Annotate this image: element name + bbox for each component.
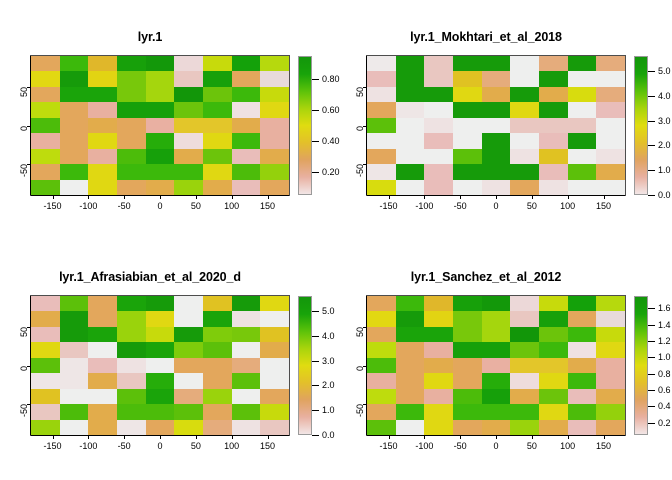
heatmap-cell xyxy=(396,404,425,419)
heatmap-cell xyxy=(424,149,453,164)
heatmap-cell xyxy=(396,56,425,71)
heatmap-cell xyxy=(174,358,203,373)
colorbar-tick xyxy=(648,170,655,171)
heatmap-cell xyxy=(539,118,568,133)
heatmap-cell xyxy=(260,102,289,117)
colorbar-tick xyxy=(312,410,319,411)
x-axis-tick-label: -150 xyxy=(379,201,397,211)
heatmap-cell xyxy=(424,358,453,373)
y-axis-tick-label: 50 xyxy=(355,327,365,337)
heatmap-cell xyxy=(88,180,117,195)
heatmap-cell xyxy=(510,71,539,86)
heatmap-cell xyxy=(31,56,60,71)
heatmap-cell xyxy=(568,420,597,435)
heatmap-cell xyxy=(424,373,453,388)
x-axis-tick xyxy=(268,195,269,199)
heatmap-cell xyxy=(31,342,60,357)
heatmap-cell xyxy=(510,327,539,342)
y-axis: 500-50 xyxy=(9,56,31,195)
heatmap-cell xyxy=(539,296,568,311)
heatmap-panel-1: lyr.1-150-100-50050100150500-500.200.400… xyxy=(0,0,336,240)
heatmap-cell xyxy=(232,296,261,311)
heatmap-cell xyxy=(88,87,117,102)
heatmap-cell xyxy=(31,358,60,373)
heatmap-cell xyxy=(424,133,453,148)
heatmap-cell xyxy=(117,404,146,419)
heatmap-cell xyxy=(510,311,539,326)
heatmap-cell xyxy=(482,149,511,164)
heatmap-cell xyxy=(31,164,60,179)
heatmap-cell xyxy=(31,133,60,148)
heatmap-cell xyxy=(539,373,568,388)
heatmap-cell xyxy=(60,420,89,435)
heatmap-cell xyxy=(367,118,396,133)
heatmap-cell xyxy=(117,102,146,117)
heatmap-cell xyxy=(232,71,261,86)
heatmap-cell xyxy=(146,420,175,435)
heatmap-cell xyxy=(510,149,539,164)
heatmap-cell xyxy=(174,102,203,117)
heatmap-cell xyxy=(367,327,396,342)
colorbar-tick-label: 1.0 xyxy=(658,165,671,175)
heatmap-cell xyxy=(60,311,89,326)
heatmap-cell xyxy=(260,404,289,419)
colorbar-tick-label: 0.0 xyxy=(658,190,671,200)
heatmap-cell xyxy=(203,102,232,117)
heatmap-cell xyxy=(367,180,396,195)
heatmap-cell xyxy=(232,133,261,148)
heatmap-cell xyxy=(482,87,511,102)
heatmap-cell xyxy=(568,311,597,326)
x-axis-tick xyxy=(268,435,269,439)
panel-title: lyr.1 xyxy=(0,30,300,44)
heatmap-cell xyxy=(568,133,597,148)
x-axis-tick xyxy=(88,195,89,199)
heatmap-cell xyxy=(146,296,175,311)
heatmap-cell xyxy=(596,373,625,388)
heatmap-cell xyxy=(424,102,453,117)
heatmap-cell xyxy=(396,133,425,148)
heatmap-cell xyxy=(31,311,60,326)
colorbar-tick-label: 1.0 xyxy=(322,405,335,415)
heatmap-cell xyxy=(203,358,232,373)
heatmap-cell xyxy=(232,327,261,342)
heatmap-cell xyxy=(367,296,396,311)
heatmap-cell xyxy=(174,327,203,342)
heatmap-cell xyxy=(260,71,289,86)
x-axis-tick-label: 100 xyxy=(224,441,239,451)
heatmap-cell xyxy=(510,87,539,102)
heatmap-cell xyxy=(31,71,60,86)
heatmap-cell xyxy=(510,373,539,388)
heatmap-grid xyxy=(31,56,289,195)
heatmap-cell xyxy=(596,180,625,195)
x-axis-tick xyxy=(196,435,197,439)
heatmap-cell xyxy=(367,404,396,419)
heatmap-cell xyxy=(31,373,60,388)
heatmap-cell xyxy=(117,389,146,404)
heatmap-cell xyxy=(146,87,175,102)
heatmap-cell xyxy=(203,164,232,179)
heatmap-cell xyxy=(260,342,289,357)
heatmap-cell xyxy=(174,118,203,133)
heatmap-cell xyxy=(424,164,453,179)
heatmap-cell xyxy=(203,373,232,388)
heatmap-cell xyxy=(203,87,232,102)
heatmap-cell xyxy=(60,296,89,311)
heatmap-cell xyxy=(596,404,625,419)
heatmap-cell xyxy=(60,149,89,164)
heatmap-cell xyxy=(424,180,453,195)
heatmap-cell xyxy=(203,311,232,326)
heatmap-cell xyxy=(60,102,89,117)
colorbar-tick-label: 2.0 xyxy=(322,380,335,390)
y-axis-tick-label: -50 xyxy=(355,164,365,177)
heatmap-cell xyxy=(232,389,261,404)
x-axis-tick-label: 100 xyxy=(560,201,575,211)
heatmap-cell xyxy=(424,389,453,404)
heatmap-cell xyxy=(232,56,261,71)
heatmap-cell xyxy=(539,164,568,179)
heatmap-cell xyxy=(482,358,511,373)
heatmap-cell xyxy=(60,373,89,388)
heatmap-cell xyxy=(396,373,425,388)
heatmap-cell xyxy=(31,102,60,117)
heatmap-cell xyxy=(174,373,203,388)
heatmap-cell xyxy=(482,389,511,404)
x-axis-tick-label: 0 xyxy=(493,441,498,451)
heatmap-plot-area xyxy=(367,296,625,435)
heatmap-cell xyxy=(88,118,117,133)
heatmap-cell xyxy=(146,311,175,326)
heatmap-cell xyxy=(232,311,261,326)
heatmap-cell xyxy=(568,56,597,71)
heatmap-cell xyxy=(174,56,203,71)
heatmap-cell xyxy=(424,296,453,311)
heatmap-cell xyxy=(60,164,89,179)
heatmap-cell xyxy=(596,342,625,357)
heatmap-cell xyxy=(568,358,597,373)
colorbar-tick-label: 5.0 xyxy=(322,306,335,316)
heatmap-cell xyxy=(539,358,568,373)
heatmap-cell xyxy=(31,404,60,419)
colorbar-tick-label: 2.0 xyxy=(658,140,671,150)
x-axis-tick xyxy=(532,435,533,439)
heatmap-cell xyxy=(539,311,568,326)
heatmap-cell xyxy=(453,102,482,117)
x-axis-tick xyxy=(160,195,161,199)
x-axis: -150-100-50050100150 xyxy=(367,195,625,217)
heatmap-cell xyxy=(174,296,203,311)
heatmap-cell xyxy=(596,102,625,117)
heatmap-cell xyxy=(396,102,425,117)
y-axis-tick-label: 50 xyxy=(19,87,29,97)
heatmap-cell xyxy=(232,373,261,388)
heatmap-cell xyxy=(453,118,482,133)
heatmap-cell xyxy=(146,118,175,133)
heatmap-cell xyxy=(482,118,511,133)
heatmap-cell xyxy=(424,327,453,342)
heatmap-grid xyxy=(31,296,289,435)
heatmap-grid xyxy=(367,296,625,435)
heatmap-panel-2: lyr.1_Mokhtari_et_al_2018-150-100-500501… xyxy=(336,0,672,240)
heatmap-cell xyxy=(510,118,539,133)
heatmap-cell xyxy=(596,133,625,148)
heatmap-cell xyxy=(203,56,232,71)
heatmap-cell xyxy=(367,56,396,71)
heatmap-cell xyxy=(396,180,425,195)
heatmap-cell xyxy=(367,149,396,164)
heatmap-cell xyxy=(424,311,453,326)
heatmap-cell xyxy=(203,296,232,311)
x-axis-tick-label: -150 xyxy=(43,441,61,451)
colorbar-tick xyxy=(648,71,655,72)
heatmap-cell xyxy=(367,420,396,435)
heatmap-cell xyxy=(568,102,597,117)
heatmap-cell xyxy=(453,164,482,179)
heatmap-cell xyxy=(568,404,597,419)
y-axis-tick-label: 50 xyxy=(355,87,365,97)
heatmap-cell xyxy=(510,164,539,179)
heatmap-cell xyxy=(396,311,425,326)
heatmap-cell xyxy=(424,342,453,357)
heatmap-cell xyxy=(596,420,625,435)
heatmap-cell xyxy=(510,296,539,311)
heatmap-cell xyxy=(31,389,60,404)
colorbar-tick xyxy=(312,172,319,173)
heatmap-cell xyxy=(396,118,425,133)
heatmap-cell xyxy=(88,358,117,373)
heatmap-cell xyxy=(117,164,146,179)
x-axis-tick xyxy=(424,435,425,439)
heatmap-cell xyxy=(203,133,232,148)
x-axis-tick-label: 0 xyxy=(157,441,162,451)
heatmap-cell xyxy=(88,404,117,419)
colorbar-tick xyxy=(648,341,655,342)
heatmap-cell xyxy=(260,373,289,388)
colorbar-tick xyxy=(648,374,655,375)
colorbar-tick xyxy=(312,79,319,80)
x-axis-tick xyxy=(496,435,497,439)
colorbar-tick-label: 1.6 xyxy=(658,303,671,313)
heatmap-cell xyxy=(117,133,146,148)
heatmap-cell xyxy=(88,149,117,164)
heatmap-cell xyxy=(367,133,396,148)
heatmap-cell xyxy=(453,404,482,419)
heatmap-cell xyxy=(232,164,261,179)
colorbar-tick xyxy=(648,121,655,122)
x-axis-tick xyxy=(88,435,89,439)
heatmap-cell xyxy=(482,373,511,388)
heatmap-cell xyxy=(596,118,625,133)
heatmap-cell xyxy=(203,71,232,86)
heatmap-cell xyxy=(260,296,289,311)
heatmap-cell xyxy=(232,180,261,195)
heatmap-cell xyxy=(396,420,425,435)
colorbar-tick xyxy=(312,110,319,111)
heatmap-cell xyxy=(88,420,117,435)
heatmap-cell xyxy=(88,71,117,86)
heatmap-cell xyxy=(396,164,425,179)
heatmap-cell xyxy=(424,87,453,102)
heatmap-cell xyxy=(510,420,539,435)
heatmap-cell xyxy=(482,404,511,419)
heatmap-cell xyxy=(60,389,89,404)
heatmap-cell xyxy=(203,118,232,133)
heatmap-cell xyxy=(453,71,482,86)
heatmap-cell xyxy=(232,358,261,373)
heatmap-cell xyxy=(117,358,146,373)
heatmap-cell xyxy=(88,56,117,71)
heatmap-cell xyxy=(568,164,597,179)
heatmap-cell xyxy=(367,164,396,179)
heatmap-cell xyxy=(596,87,625,102)
colorbar-gradient xyxy=(634,296,648,435)
heatmap-cell xyxy=(539,420,568,435)
heatmap-cell xyxy=(510,358,539,373)
heatmap-cell xyxy=(539,149,568,164)
y-axis-tick-label: -50 xyxy=(355,404,365,417)
heatmap-cell xyxy=(367,358,396,373)
heatmap-panel-3: lyr.1_Afrasiabian_et_al_2020_d-150-100-5… xyxy=(0,240,336,480)
heatmap-cell xyxy=(88,373,117,388)
heatmap-cell xyxy=(146,133,175,148)
heatmap-cell xyxy=(146,404,175,419)
heatmap-cell xyxy=(174,311,203,326)
heatmap-cell xyxy=(260,311,289,326)
y-axis-tick-label: -50 xyxy=(19,164,29,177)
x-axis-tick xyxy=(604,435,605,439)
heatmap-cell xyxy=(568,296,597,311)
heatmap-cell xyxy=(174,389,203,404)
heatmap-cell xyxy=(568,149,597,164)
heatmap-cell xyxy=(174,342,203,357)
heatmap-cell xyxy=(31,118,60,133)
heatmap-cell xyxy=(367,373,396,388)
colorbar-tick xyxy=(648,390,655,391)
heatmap-cell xyxy=(88,327,117,342)
heatmap-cell xyxy=(117,149,146,164)
x-axis-tick xyxy=(389,435,390,439)
heatmap-cell xyxy=(424,71,453,86)
heatmap-cell xyxy=(203,420,232,435)
heatmap-cell xyxy=(482,327,511,342)
heatmap-cell xyxy=(31,87,60,102)
colorbar-tick-label: 0.4 xyxy=(658,401,671,411)
heatmap-cell xyxy=(453,358,482,373)
x-axis-tick-label: -150 xyxy=(43,201,61,211)
heatmap-cell xyxy=(539,133,568,148)
heatmap-cell xyxy=(482,180,511,195)
heatmap-cell xyxy=(396,296,425,311)
heatmap-cell xyxy=(174,71,203,86)
x-axis-tick-label: 150 xyxy=(596,441,611,451)
heatmap-cell xyxy=(260,180,289,195)
heatmap-cell xyxy=(539,389,568,404)
heatmap-cell xyxy=(31,296,60,311)
heatmap-plot-area xyxy=(367,56,625,195)
heatmap-cell xyxy=(88,389,117,404)
heatmap-cell xyxy=(260,87,289,102)
heatmap-cell xyxy=(453,389,482,404)
heatmap-cell xyxy=(453,420,482,435)
heatmap-cell xyxy=(174,133,203,148)
heatmap-cell xyxy=(396,358,425,373)
x-axis-tick-label: 50 xyxy=(191,441,201,451)
heatmap-cell xyxy=(482,56,511,71)
x-axis-tick xyxy=(460,435,461,439)
heatmap-cell xyxy=(482,420,511,435)
heatmap-cell xyxy=(146,342,175,357)
x-axis-tick-label: 100 xyxy=(560,441,575,451)
heatmap-cell xyxy=(396,149,425,164)
x-axis-tick xyxy=(232,435,233,439)
x-axis-tick-label: -100 xyxy=(79,441,97,451)
x-axis: -150-100-50050100150 xyxy=(31,435,289,457)
colorbar-tick xyxy=(648,145,655,146)
heatmap-cell xyxy=(146,164,175,179)
heatmap-grid xyxy=(367,56,625,195)
heatmap-cell xyxy=(367,342,396,357)
heatmap-cell xyxy=(174,420,203,435)
colorbar-tick xyxy=(648,325,655,326)
heatmap-cell xyxy=(203,180,232,195)
x-axis-tick-label: -50 xyxy=(454,441,467,451)
panel-title: lyr.1_Afrasiabian_et_al_2020_d xyxy=(0,270,300,284)
colorbar-ticks: 0.20.40.60.81.01.21.41.6 xyxy=(648,296,672,435)
panel-title: lyr.1_Sanchez_et_al_2012 xyxy=(336,270,636,284)
heatmap-cell xyxy=(117,373,146,388)
x-axis-tick-label: 150 xyxy=(260,201,275,211)
x-axis-tick xyxy=(160,435,161,439)
heatmap-cell xyxy=(539,404,568,419)
heatmap-cell xyxy=(60,342,89,357)
heatmap-cell xyxy=(203,342,232,357)
heatmap-cell xyxy=(117,87,146,102)
heatmap-cell xyxy=(568,71,597,86)
heatmap-cell xyxy=(146,71,175,86)
heatmap-cell xyxy=(146,373,175,388)
heatmap-cell xyxy=(174,180,203,195)
x-axis-tick-label: -50 xyxy=(118,201,131,211)
x-axis-tick-label: -100 xyxy=(79,201,97,211)
y-axis-tick-label: 50 xyxy=(19,327,29,337)
colorbar-tick xyxy=(648,406,655,407)
heatmap-cell xyxy=(260,164,289,179)
heatmap-cell xyxy=(367,71,396,86)
x-axis-tick-label: 50 xyxy=(527,441,537,451)
heatmap-cell xyxy=(146,180,175,195)
colorbar-tick-label: 1.2 xyxy=(658,336,671,346)
y-axis: 500-50 xyxy=(345,56,367,195)
heatmap-cell xyxy=(568,389,597,404)
heatmap-cell xyxy=(31,149,60,164)
colorbar-ticks: 0.01.02.03.04.05.0 xyxy=(648,56,672,195)
heatmap-cell xyxy=(117,420,146,435)
heatmap-cell xyxy=(174,149,203,164)
colorbar-tick-label: 1.0 xyxy=(658,352,671,362)
heatmap-cell xyxy=(596,71,625,86)
heatmap-cell xyxy=(174,87,203,102)
colorbar-tick xyxy=(648,96,655,97)
heatmap-cell xyxy=(453,296,482,311)
x-axis-tick-label: 150 xyxy=(260,441,275,451)
heatmap-cell xyxy=(60,180,89,195)
heatmap-cell xyxy=(31,327,60,342)
heatmap-cell xyxy=(117,118,146,133)
heatmap-cell xyxy=(424,118,453,133)
heatmap-cell xyxy=(568,118,597,133)
